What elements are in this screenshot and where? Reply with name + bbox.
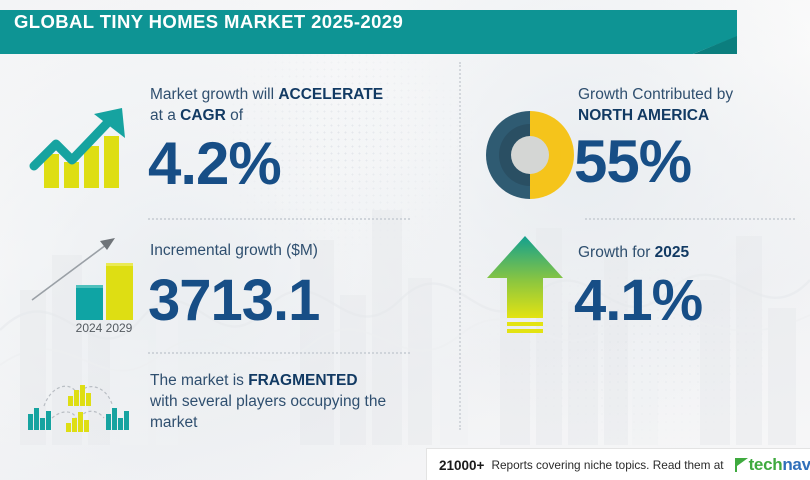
horizontal-divider-left-top: [148, 218, 410, 220]
region-text-bold: NORTH AMERICA: [578, 107, 709, 124]
region-caption: Growth Contributed by NORTH AMERICA: [578, 84, 808, 126]
bar-label-2029: 2029: [106, 321, 133, 335]
cagr-text-line2-pre: at a: [150, 107, 180, 124]
flag-icon: [734, 457, 749, 473]
horizontal-divider-right: [585, 218, 795, 220]
yearly-text-bold: 2025: [655, 244, 689, 261]
fragmentation-line3: market: [150, 414, 197, 431]
cagr-text-pre: Market growth will: [150, 86, 278, 103]
infographic-canvas: GLOBAL TINY HOMES MARKET 2025-2029 Marke…: [0, 0, 810, 480]
market-players-icon: [18, 378, 136, 434]
footer-tagline: Reports covering niche topics. Read them…: [491, 458, 723, 472]
bar-growth-icon: 2024 2029: [14, 228, 136, 336]
technavio-logo[interactable]: technav: [734, 455, 810, 475]
growth-chart-icon: [26, 98, 134, 198]
logo-text-tech: tech: [749, 455, 783, 475]
cagr-text-line2-post: of: [226, 107, 243, 124]
horizontal-divider-left-bottom: [148, 352, 410, 354]
yearly-value: 4.1%: [574, 272, 702, 330]
up-arrow-icon: [483, 232, 567, 340]
region-text-pre: Growth Contributed by: [578, 86, 733, 103]
region-value: 55%: [574, 132, 691, 192]
yearly-text-pre: Growth for: [578, 244, 655, 261]
page-title: GLOBAL TINY HOMES MARKET 2025-2029: [14, 10, 403, 34]
yearly-caption: Growth for 2025: [578, 242, 808, 263]
fragmentation-line2: with several players occupying the: [150, 393, 386, 410]
footer-bar: 21000+ Reports covering niche topics. Re…: [426, 448, 810, 480]
incremental-value: 3713.1: [148, 272, 319, 330]
fragmentation-line1-bold: FRAGMENTED: [248, 372, 357, 389]
footer-report-count: 21000+: [439, 458, 484, 473]
vertical-divider: [459, 62, 461, 430]
cagr-text-bold: ACCELERATE: [278, 86, 383, 103]
donut-chart-icon: [482, 107, 578, 203]
bar-label-2024: 2024: [76, 321, 103, 335]
fragmentation-caption: The market is FRAGMENTED with several pl…: [150, 370, 450, 433]
cagr-text-line2-bold: CAGR: [180, 107, 226, 124]
incremental-label: Incremental growth ($M): [150, 240, 450, 261]
logo-text-nav: nav: [782, 455, 810, 475]
cagr-value: 4.2%: [148, 134, 281, 194]
fragmentation-line1-pre: The market is: [150, 372, 248, 389]
cagr-caption: Market growth will ACCELERATE at a CAGR …: [150, 84, 450, 126]
